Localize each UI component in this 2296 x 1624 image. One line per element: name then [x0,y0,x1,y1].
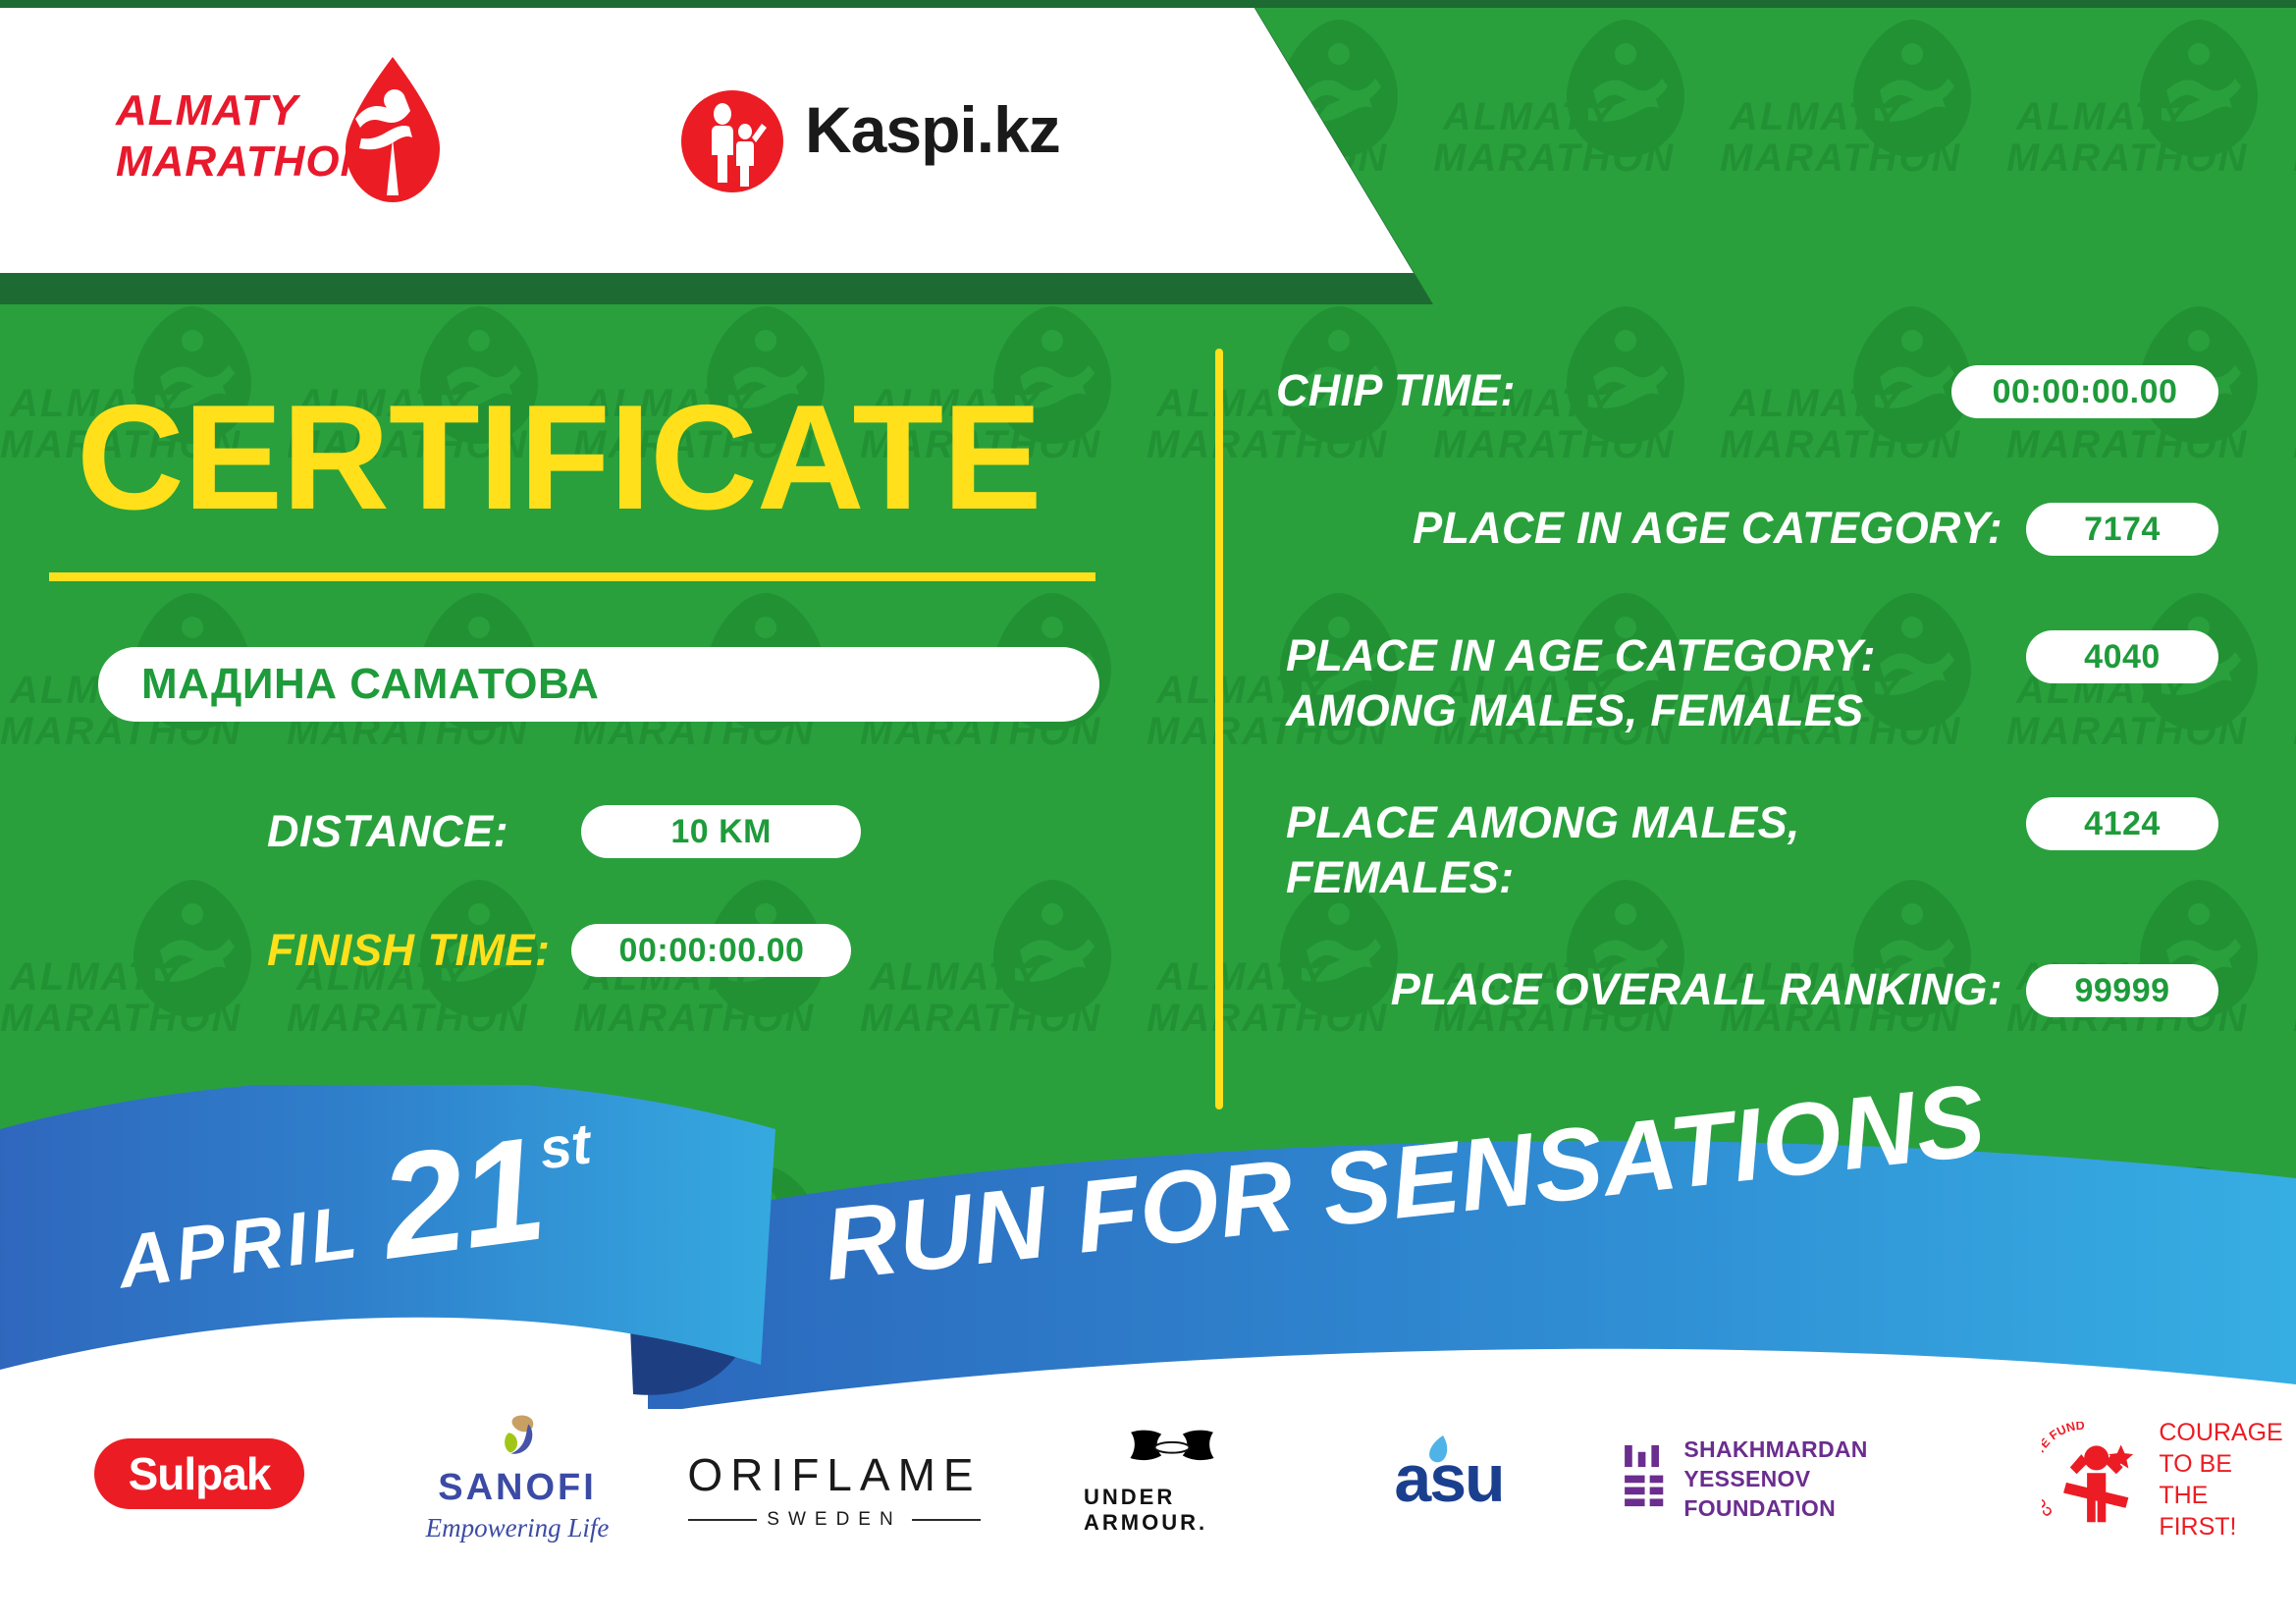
sponsor-strip: Sulpak SANOFI Empowering Life ORIFLAME S… [0,1414,2296,1624]
distance-label: DISTANCE: [267,806,508,857]
sponsor-logo-under-armour: UNDER ARMOUR. [1084,1430,1260,1536]
kaspi-wordmark: Kaspi.kz [805,92,1060,167]
header-logos: ALMATY MARATHON [0,0,1178,275]
kaspi-figure-icon [677,86,787,196]
place-age-category-gender-row: PLACE IN AGE CATEGORY: AMONG MALES, FEMA… [1276,628,2218,738]
place-age-category-label: PLACE IN AGE CATEGORY: [1276,501,2002,556]
chip-time-label: CHIP TIME: [1276,363,1951,418]
oriflame-rule-left [688,1519,757,1521]
event-day: 21 [371,1104,552,1293]
place-overall-row: PLACE OVERALL RANKING: 99999 [1276,962,2218,1017]
place-age-category-gender-label: PLACE IN AGE CATEGORY: AMONG MALES, FEMA… [1276,628,2002,738]
runner-drop-icon [334,54,452,211]
under-armour-icon [1103,1430,1241,1479]
chip-time-row: CHIP TIME: 00:00:00.00 [1276,363,2218,418]
chip-time-value: 00:00:00.00 [1951,365,2218,418]
asu-drop-icon [1421,1434,1451,1469]
sanofi-mark-icon [477,1414,558,1463]
yessenov-mark-icon [1620,1437,1668,1520]
top-border-line [0,0,2296,8]
yessenov-wordmark: SHAKHMARDAN YESSENOV FOUNDATION [1683,1435,1953,1523]
sponsor-logo-courage-to-be-first: CORPORATE FUND COURAGE TO BE THE FIRST! [2042,1420,2287,1540]
sanofi-tagline: Empowering Life [426,1513,610,1543]
place-overall-value: 99999 [2026,964,2218,1017]
finish-time-label: FINISH TIME: [267,925,550,976]
finish-time-row: FINISH TIME: 00:00:00.00 [267,924,851,977]
place-among-gender-label: PLACE AMONG MALES, FEMALES: [1276,795,2002,905]
sponsor-logo-sulpak: Sulpak [94,1438,304,1509]
certificate-canvas: ALMATY MARATHON ALMATY MARATHON [0,0,2296,1624]
kaspi-logo: Kaspi.kz [677,86,1090,194]
participant-name-field[interactable]: МАДИНА САМАТОВА [98,647,1099,722]
title-underline [49,572,1095,581]
finish-time-value: 00:00:00.00 [571,924,851,977]
courage-wordmark: COURAGE TO BE THE FIRST! [2159,1417,2287,1543]
page-title: CERTIFICATE [77,383,1041,532]
oriflame-wordmark: ORIFLAME [687,1448,981,1501]
oriflame-sub: SWEDEN [767,1509,901,1531]
distance-row: DISTANCE: 10 KM [267,805,861,858]
sponsor-logo-oriflame: ORIFLAME SWEDEN [687,1445,982,1534]
event-day-ordinal: st [536,1110,595,1182]
place-overall-label: PLACE OVERALL RANKING: [1276,962,2002,1017]
courage-figure-icon: CORPORATE FUND [2042,1422,2153,1538]
sponsor-logo-asu: asu [1370,1437,1527,1520]
place-age-category-value: 7174 [2026,503,2218,556]
sulpak-wordmark: Sulpak [94,1438,304,1509]
place-among-gender-value: 4124 [2026,797,2218,850]
sanofi-wordmark: SANOFI [438,1467,597,1509]
sponsor-logo-sanofi: SANOFI Empowering Life [404,1414,630,1543]
oriflame-sub-wrap: SWEDEN [688,1509,981,1531]
participant-name-value: МАДИНА САМАТОВА [141,660,599,709]
oriflame-rule-right [912,1519,981,1521]
distance-value: 10 KM [581,805,861,858]
place-among-gender-row: PLACE AMONG MALES, FEMALES: 4124 [1276,795,2218,905]
under-armour-wordmark: UNDER ARMOUR. [1084,1485,1260,1536]
place-age-category-row: PLACE IN AGE CATEGORY: 7174 [1276,501,2218,556]
column-divider [1215,349,1223,1110]
almaty-marathon-logo: ALMATY MARATHON [116,54,440,211]
place-age-category-gender-value: 4040 [2026,630,2218,683]
sponsor-logo-yessenov-foundation: SHAKHMARDAN YESSENOV FOUNDATION [1620,1434,1953,1524]
event-month: APRIL [113,1189,365,1306]
